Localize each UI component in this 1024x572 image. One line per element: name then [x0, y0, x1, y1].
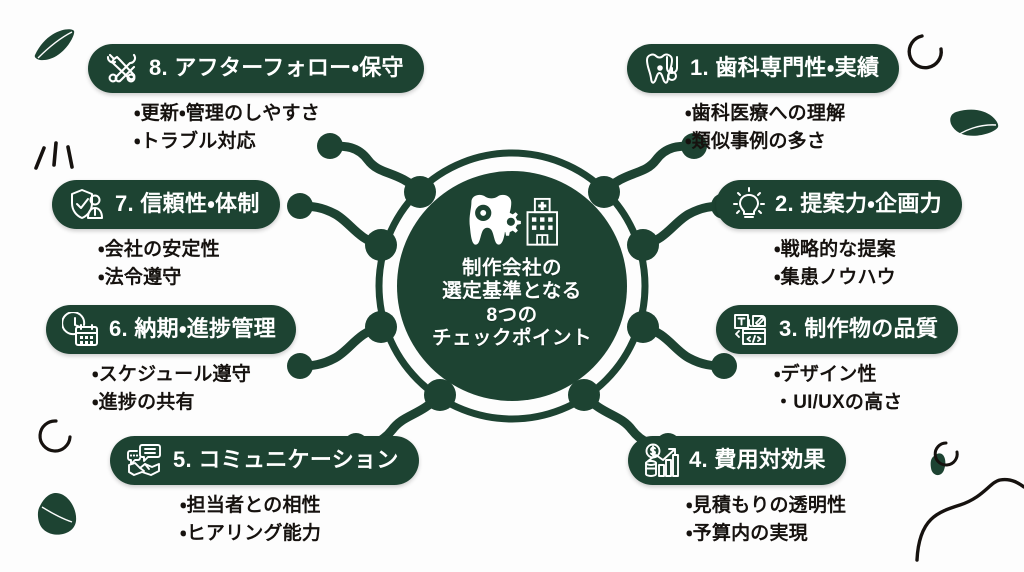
item-8-bullets: 更新・管理のしやすさ トラブル対応 — [88, 100, 424, 155]
ring-node-7 — [365, 229, 397, 261]
item-7-bullet-1: 会社の安定性 — [98, 236, 280, 264]
tooth-stethoscope-icon — [643, 51, 681, 85]
lightbulb-icon — [732, 187, 766, 221]
item-5-bullet-1: 担当者との相性 — [180, 492, 419, 520]
ring-node-2 — [627, 229, 659, 261]
item-8[interactable]: 8. アフターフォロー・保守 更新・管理のしやすさ トラブル対応 — [88, 44, 424, 155]
item-5[interactable]: 5. コミュニケーション 担当者との相性 ヒアリング能力 — [110, 436, 419, 547]
item-2-label: 2. 提案力・企画力 — [775, 191, 942, 217]
ring-node-4 — [568, 379, 600, 411]
hub-title: 制作会社の 選定基準となる 8つの チェックポイント — [432, 257, 592, 351]
item-5-pill[interactable]: 5. コミュニケーション — [110, 436, 419, 485]
ring-node-3 — [627, 311, 659, 343]
item-1-bullet-1: 歯科医療への理解 — [685, 100, 899, 128]
item-5-bullets: 担当者との相性 ヒアリング能力 — [110, 492, 419, 547]
ring-node-6 — [365, 311, 397, 343]
item-8-pill[interactable]: 8. アフターフォロー・保守 — [88, 44, 424, 93]
item-1-pill[interactable]: 1. 歯科専門性・実績 — [627, 44, 899, 93]
item-1-bullets: 歯科医療への理解 類似事例の多さ — [627, 100, 899, 155]
handshake-chat-icon — [126, 443, 164, 477]
item-8-bullet-2: トラブル対応 — [134, 128, 424, 156]
item-2[interactable]: 2. 提案力・企画力 戦略的な提案 集患ノウハウ — [716, 180, 962, 291]
design-code-icon — [732, 312, 770, 346]
item-2-bullet-1: 戦略的な提案 — [774, 236, 962, 264]
wrench-screwdriver-icon — [104, 51, 140, 85]
item-7-label: 7. 信頼性・体制 — [115, 191, 260, 217]
item-2-bullet-2: 集患ノウハウ — [774, 264, 962, 292]
item-3-bullet-2: UI/UXの高さ — [774, 389, 958, 417]
item-6-bullet-1: スケジュール遵守 — [92, 361, 296, 389]
item-6-bullet-2: 進捗の共有 — [92, 389, 296, 417]
item-3-pill[interactable]: 3. 制作物の品質 — [716, 305, 958, 354]
item-6-pill[interactable]: 6. 納期・進捗管理 — [46, 305, 296, 354]
item-3-bullet-1: デザイン性 — [774, 361, 958, 389]
item-1-label: 1. 歯科専門性・実績 — [690, 55, 879, 81]
item-1[interactable]: 1. 歯科専門性・実績 歯科医療への理解 類似事例の多さ — [627, 44, 899, 155]
item-6-label: 6. 納期・進捗管理 — [109, 316, 276, 342]
tooth-gear-hospital-icon — [464, 193, 560, 255]
clock-calendar-icon — [62, 312, 100, 346]
item-2-bullets: 戦略的な提案 集患ノウハウ — [716, 236, 962, 291]
item-5-label: 5. コミュニケーション — [173, 447, 399, 473]
item-8-bullet-1: 更新・管理のしやすさ — [134, 100, 424, 128]
item-4[interactable]: 4. 費用対効果 見積もりの透明性 予算内の実現 — [628, 436, 846, 547]
item-4-bullet-2: 予算内の実現 — [686, 520, 846, 548]
item-3-bullets: デザイン性 UI/UXの高さ — [716, 361, 958, 416]
item-2-pill[interactable]: 2. 提案力・企画力 — [716, 180, 962, 229]
item-7[interactable]: 7. 信頼性・体制 会社の安定性 法令遵守 — [52, 180, 280, 291]
shield-check-person-icon — [68, 187, 106, 221]
item-7-bullets: 会社の安定性 法令遵守 — [52, 236, 280, 291]
endpoint-node-7 — [287, 193, 313, 219]
item-4-bullet-1: 見積もりの透明性 — [686, 492, 846, 520]
item-3[interactable]: 3. 制作物の品質 デザイン性 UI/UXの高さ — [716, 305, 958, 416]
item-1-bullet-2: 類似事例の多さ — [685, 128, 899, 156]
item-5-bullet-2: ヒアリング能力 — [180, 520, 419, 548]
item-8-label: 8. アフターフォロー・保守 — [149, 55, 404, 81]
item-4-bullets: 見積もりの透明性 予算内の実現 — [628, 492, 846, 547]
center-hub: 制作会社の 選定基準となる 8つの チェックポイント — [397, 171, 627, 401]
item-4-label: 4. 費用対効果 — [689, 447, 826, 473]
item-6[interactable]: 6. 納期・進捗管理 スケジュール遵守 進捗の共有 — [46, 305, 296, 416]
item-4-pill[interactable]: 4. 費用対効果 — [628, 436, 846, 485]
item-7-pill[interactable]: 7. 信頼性・体制 — [52, 180, 280, 229]
item-3-label: 3. 制作物の品質 — [779, 316, 938, 342]
infographic-canvas: 制作会社の 選定基準となる 8つの チェックポイント 8. アフターフォロー・保… — [0, 0, 1024, 572]
item-7-bullet-2: 法令遵守 — [98, 264, 280, 292]
item-6-bullets: スケジュール遵守 進捗の共有 — [46, 361, 296, 416]
money-growth-chart-icon — [644, 443, 680, 477]
